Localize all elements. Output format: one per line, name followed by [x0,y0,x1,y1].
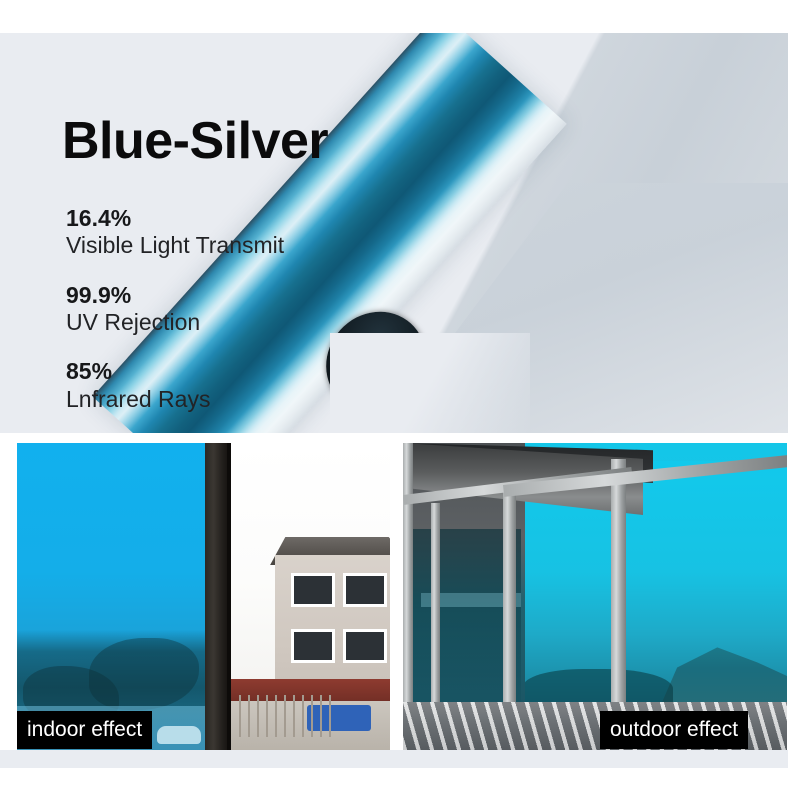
spec-list: 16.4% Visible Light Transmit 99.9% UV Re… [66,205,366,413]
spec-value: 99.9% [66,282,366,309]
spec-item-uv-rejection: 99.9% UV Rejection [66,282,366,337]
photo-outdoor-effect: outdoor effect [403,443,787,750]
photo-indoor-effect: indoor effect [17,443,390,750]
spec-value: 85% [66,358,366,385]
spec-label: Visible Light Transmit [66,232,366,260]
page-title: Blue-Silver [62,115,328,167]
spec-label: Lnfrared Rays [66,386,366,414]
bottom-strip [0,750,788,768]
indoor-effect-caption: indoor effect [17,711,152,749]
indoor-tinted-car [157,726,201,744]
outside-fence [239,695,331,737]
spec-value: 16.4% [66,205,366,232]
outside-house-window [291,573,335,607]
spec-label: UV Rejection [66,309,366,337]
outside-house-window [343,629,387,663]
hero-panel: Blue-Silver 16.4% Visible Light Transmit… [0,33,788,433]
indoor-untinted-view [231,443,390,750]
spec-item-visible-light: 16.4% Visible Light Transmit [66,205,366,260]
outside-house-window [291,629,335,663]
outdoor-effect-caption: outdoor effect [600,711,748,749]
product-infographic: Blue-Silver 16.4% Visible Light Transmit… [0,0,800,800]
spec-item-infrared-rays: 85% Lnfrared Rays [66,358,366,413]
indoor-window-frame [205,443,229,750]
outside-house-window [343,573,387,607]
